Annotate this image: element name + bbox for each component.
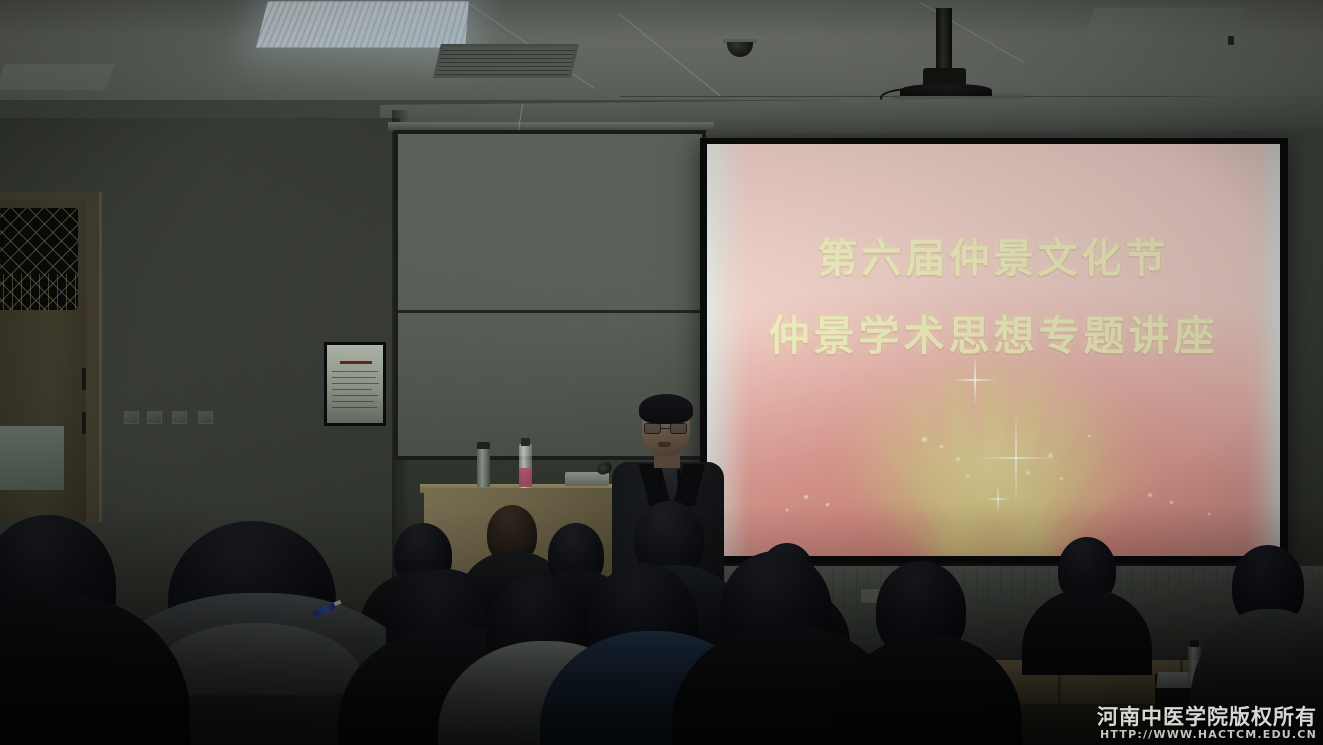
wall-notice-frame <box>324 342 386 426</box>
door-grille-window <box>0 208 78 310</box>
fluorescent-ceiling-light <box>256 1 469 47</box>
audience <box>0 415 1323 745</box>
sprinkler-icon <box>1228 36 1234 45</box>
ceiling-vent <box>433 44 579 78</box>
ceiling-panel-dim <box>0 64 115 90</box>
door-hinge-upper <box>82 368 86 390</box>
audience-shoulders <box>1190 609 1323 745</box>
ceiling-panel-dim-2 <box>1086 8 1243 38</box>
wall-notice <box>327 345 383 423</box>
audience-shoulders <box>1022 589 1152 675</box>
slide-title-line2: 仲景学术思想专题讲座 <box>707 302 1280 362</box>
lecture-photo: 第六届仲景文化节 仲景学术思想专题讲座 <box>0 0 1323 745</box>
slide-title-line1: 第六届仲景文化节 <box>707 226 1280 284</box>
projector-pole <box>936 8 952 74</box>
